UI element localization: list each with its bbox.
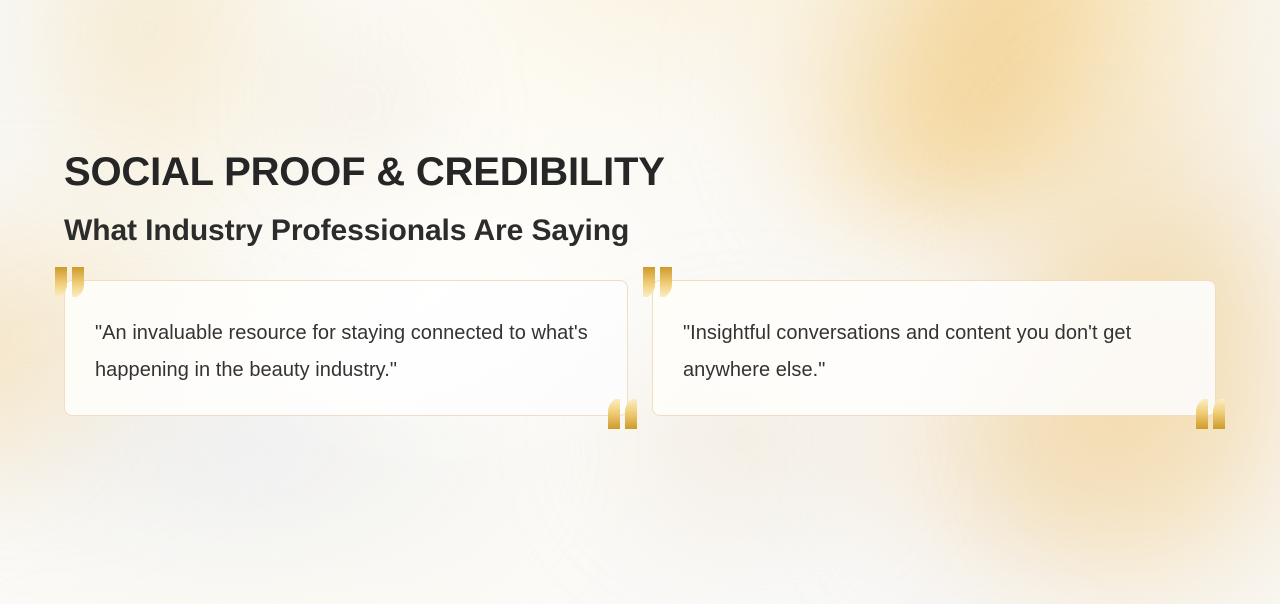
- testimonial-card: "Insightful conversations and content yo…: [652, 280, 1216, 416]
- quote-close-icon: [1193, 399, 1227, 429]
- quote-open-icon: [641, 267, 675, 297]
- testimonials-section: SOCIAL PROOF & CREDIBILITY What Industry…: [0, 0, 1280, 604]
- page-title: What Industry Professionals Are Saying: [64, 211, 629, 251]
- testimonial-card: "An invaluable resource for staying conn…: [64, 280, 628, 416]
- background-blob: [727, 0, 1280, 269]
- testimonial-list: "An invaluable resource for staying conn…: [64, 280, 1216, 416]
- background-blob: [420, 0, 940, 110]
- section-eyebrow: SOCIAL PROOF & CREDIBILITY: [64, 148, 665, 196]
- testimonial-quote: "An invaluable resource for staying conn…: [95, 315, 597, 389]
- background-blob: [0, 0, 300, 240]
- quote-open-icon: [53, 267, 87, 297]
- testimonial-quote: "Insightful conversations and content yo…: [683, 315, 1185, 389]
- quote-close-icon: [605, 399, 639, 429]
